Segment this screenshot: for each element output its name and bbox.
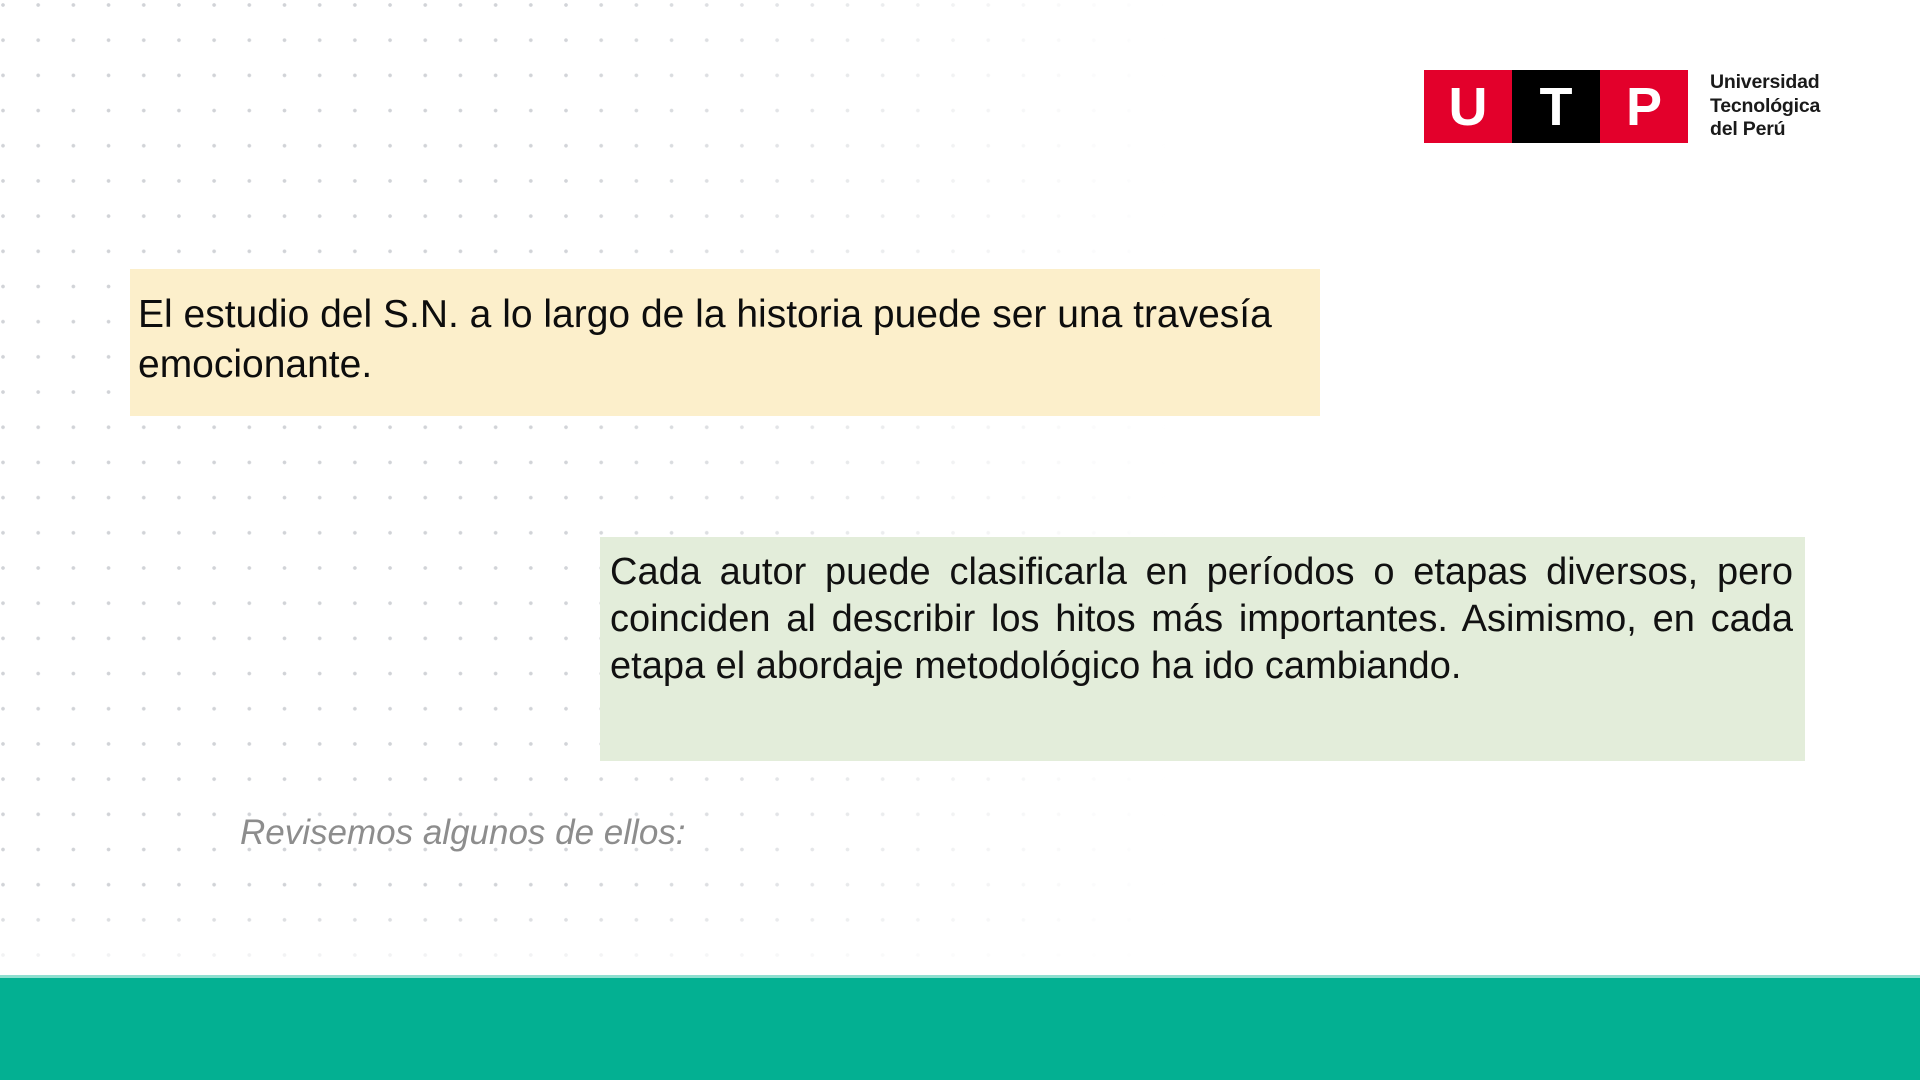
utp-wordmark-line-3: del Perú (1710, 118, 1820, 142)
yellow-callout-box: El estudio del S.N. a lo largo de la his… (130, 269, 1320, 416)
utp-logo-letter-t: T (1512, 70, 1600, 143)
utp-logo: U T P Universidad Tecnológica del Perú (1424, 70, 1820, 143)
utp-wordmark-line-1: Universidad (1710, 71, 1820, 95)
utp-wordmark-line-2: Tecnológica (1710, 95, 1820, 119)
footer-bar (0, 978, 1920, 1080)
slide-canvas: U T P Universidad Tecnológica del Perú E… (0, 0, 1920, 1080)
utp-logo-letter-p: P (1600, 70, 1688, 143)
green-callout-box: Cada autor puede clasificarla en período… (600, 537, 1805, 761)
utp-logo-blocks: U T P (1424, 70, 1688, 143)
green-callout-text: Cada autor puede clasificarla en período… (610, 549, 1793, 690)
utp-logo-letter-u: U (1424, 70, 1512, 143)
utp-wordmark: Universidad Tecnológica del Perú (1710, 71, 1820, 142)
note-text: Revisemos algunos de ellos: (240, 812, 686, 854)
yellow-callout-text: El estudio del S.N. a lo largo de la his… (138, 290, 1302, 390)
